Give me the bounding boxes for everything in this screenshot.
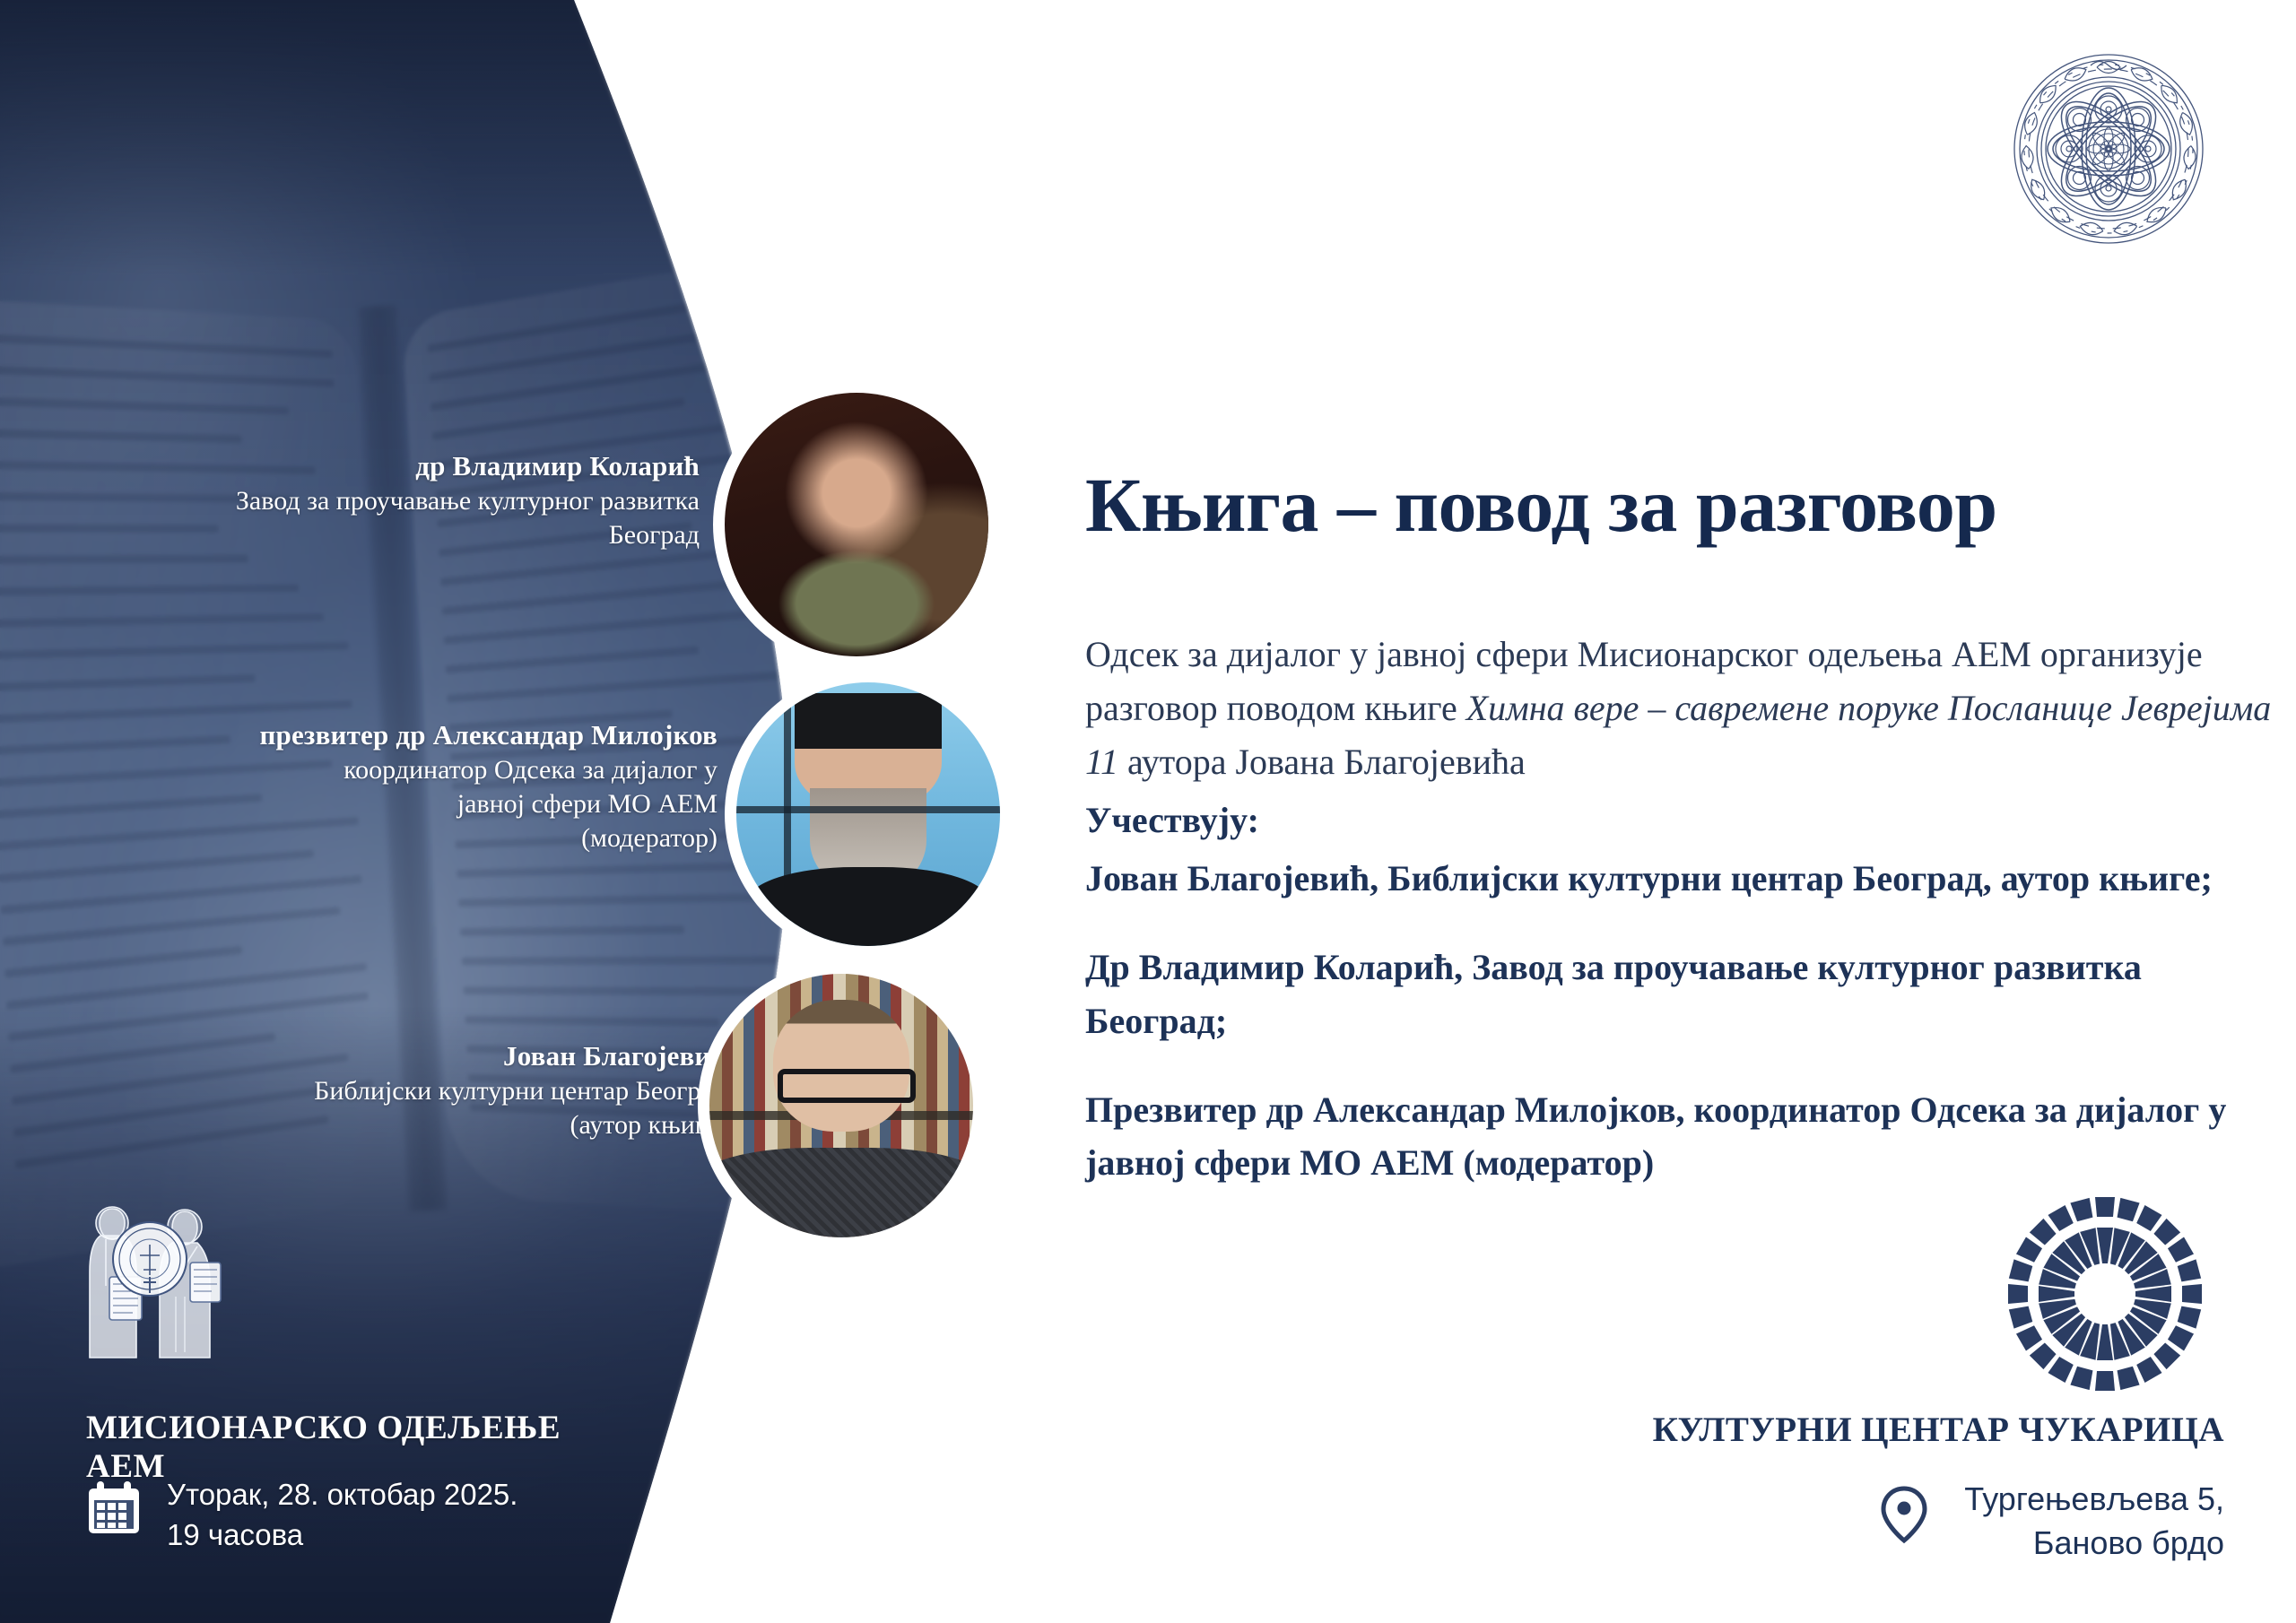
event-time: 19 часова xyxy=(167,1515,517,1556)
saints-cyril-methodius-emblem xyxy=(70,1200,230,1370)
page-title: Књига – повод за разговор xyxy=(1085,464,2269,545)
event-datetime: Уторак, 28. октобар 2025. 19 часова xyxy=(86,1475,517,1556)
speaker-affiliation-line: координатор Одсека за дијалог у xyxy=(108,753,717,787)
map-pin-icon xyxy=(1874,1485,1934,1544)
speaker-affiliation-line: (модератор) xyxy=(108,821,717,855)
speaker-affiliation-line: (аутор књиге) xyxy=(108,1108,726,1142)
participants-block: Учествују: Јован Благојевић, Библијски к… xyxy=(1085,794,2287,1189)
participant-item: Др Владимир Коларић, Завод за проучавање… xyxy=(1085,941,2287,1046)
venue-address-text: Тургењевљева 5, Баново брдо xyxy=(1964,1478,2224,1565)
calendar-icon xyxy=(86,1480,142,1536)
avatar xyxy=(736,682,1000,946)
speaker-affiliation-line: Библијски културни центар Београд xyxy=(108,1074,726,1108)
event-description: Одсек за дијалог у јавној сфери Мисионар… xyxy=(1085,628,2278,789)
participant-item: Јован Благојевић, Библијски културни цен… xyxy=(1085,852,2287,905)
speaker-photo-1 xyxy=(713,381,1000,668)
speaker-name: презвитер др Александар Милојков xyxy=(108,717,717,753)
event-date: Уторак, 28. октобар 2025. xyxy=(167,1475,517,1515)
participants-heading: Учествују: xyxy=(1085,794,2287,846)
speaker-name: Јован Благојевић xyxy=(108,1038,726,1074)
speaker-caption-2: презвитер др Александар Милојков координ… xyxy=(108,717,717,856)
description-part-2: аутора Јована Благојевића xyxy=(1118,742,1526,782)
speaker-name: др Владимир Коларић xyxy=(108,448,700,484)
speaker-caption-3: Јован Благојевић Библијски културни цент… xyxy=(108,1038,726,1142)
poster-root: др Владимир Коларић Завод за проучавање … xyxy=(0,0,2296,1623)
venue-name: КУЛТУРНИ ЦЕНТАР ЧУКАРИЦА xyxy=(1166,1410,2224,1450)
participant-item: Презвитер др Александар Милојков, коорди… xyxy=(1085,1083,2287,1189)
address-line-2: Баново брдо xyxy=(1964,1522,2224,1566)
speaker-affiliation-line: Београд xyxy=(108,518,700,552)
speaker-photo-3 xyxy=(698,962,985,1249)
speaker-caption-1: др Владимир Коларић Завод за проучавање … xyxy=(108,448,700,552)
address-line-1: Тургењевљева 5, xyxy=(1964,1478,2224,1522)
venue-address-block: Тургењевљева 5, Баново брдо xyxy=(1874,1478,2224,1565)
speaker-affiliation-line: Завод за проучавање културног развитка xyxy=(108,484,700,518)
radial-burst-logo xyxy=(2002,1191,2208,1397)
speaker-affiliation-line: јавној сфери МО АЕМ xyxy=(108,787,717,821)
avatar xyxy=(709,974,973,1237)
date-time-text: Уторак, 28. октобар 2025. 19 часова xyxy=(167,1475,517,1556)
avatar xyxy=(725,393,988,656)
speaker-photo-2 xyxy=(725,671,1012,958)
ornamental-rosette-logo xyxy=(2012,52,2205,246)
